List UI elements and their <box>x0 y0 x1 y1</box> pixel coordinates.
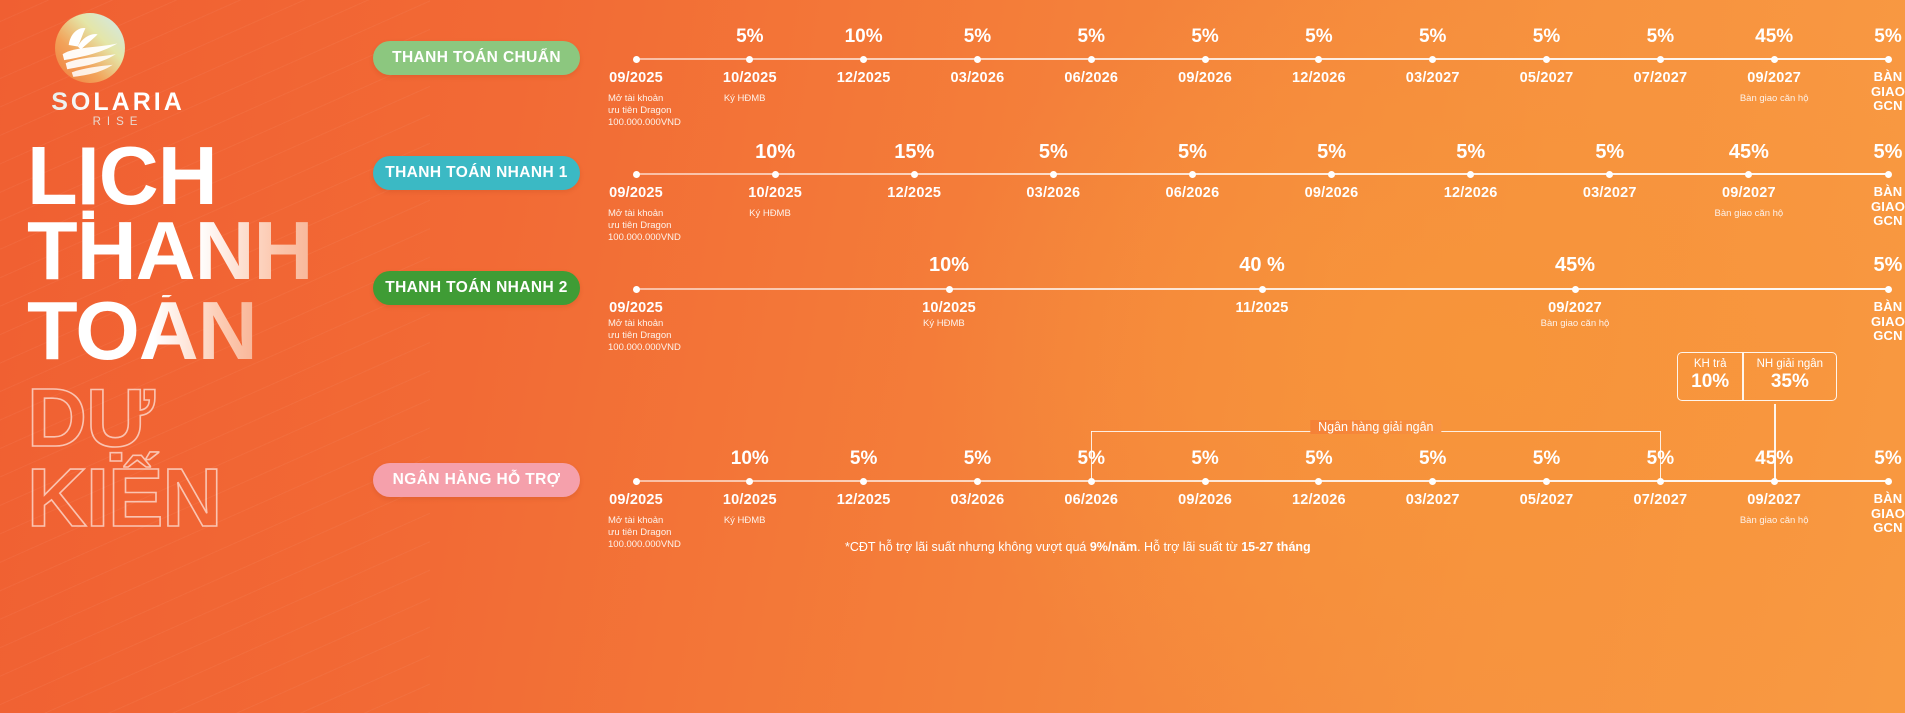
headline-line-2: THANH <box>27 215 312 286</box>
milestone-node[interactable] <box>1050 171 1057 178</box>
plan-pill-4[interactable]: NGÂN HÀNG HỖ TRỢ <box>373 463 580 497</box>
milestone-percent: 5% <box>1305 448 1332 470</box>
milestone-date: 07/2027 <box>1633 492 1687 508</box>
milestone-date: 05/2027 <box>1520 492 1574 508</box>
milestone-date: 09/2025 <box>609 70 663 86</box>
milestone-date: 12/2026 <box>1444 185 1498 201</box>
split-box-bank-cell: NH giải ngân 35% <box>1744 353 1836 400</box>
milestone-percent: 5% <box>1191 448 1218 470</box>
milestone-date: 10/2025 <box>748 185 802 201</box>
milestone-node[interactable] <box>1315 478 1322 485</box>
milestone-percent: 10% <box>755 141 795 164</box>
milestone-percent: 5% <box>736 26 763 48</box>
milestone-date: BÀN GIAO GCN <box>1871 300 1905 344</box>
brand-subtitle: RISE <box>33 116 203 128</box>
milestone-date: 11/2025 <box>1235 300 1288 316</box>
milestone-date: 09/2026 <box>1305 185 1359 201</box>
milestone-node[interactable] <box>1543 56 1550 63</box>
footnote-duration: 15-27 tháng <box>1241 540 1310 554</box>
milestone-note: Mở tài khoản ưu tiên Dragon 100.000.000V… <box>608 515 681 551</box>
milestone-percent: 5% <box>1419 26 1446 48</box>
milestone-node[interactable] <box>633 171 640 178</box>
milestone-percent: 5% <box>1317 141 1346 164</box>
milestone-node[interactable] <box>974 56 981 63</box>
headline-line-4: DỰ <box>27 382 154 453</box>
split-box-customer-label: KH trả <box>1694 358 1727 370</box>
plan-pill-label: THANH TOÁN NHANH 1 <box>385 164 568 182</box>
milestone-node[interactable] <box>1657 56 1664 63</box>
milestone-date: 12/2026 <box>1292 70 1346 86</box>
milestone-date: 12/2025 <box>837 70 891 86</box>
milestone-node[interactable] <box>860 478 867 485</box>
milestone-node[interactable] <box>1467 171 1474 178</box>
milestone-percent: 5% <box>1419 448 1446 470</box>
milestone-date: 09/2027 <box>1747 492 1801 508</box>
split-box-bank-value: 35% <box>1771 371 1809 393</box>
milestone-node[interactable] <box>1202 56 1209 63</box>
milestone-date: 03/2027 <box>1406 70 1460 86</box>
milestone-node[interactable] <box>1429 56 1436 63</box>
milestone-percent: 5% <box>1533 448 1560 470</box>
milestone-node[interactable] <box>1429 478 1436 485</box>
sun-leaf-wave-logo-icon <box>52 10 128 86</box>
milestone-date: BÀN GIAO GCN <box>1871 70 1905 114</box>
milestone-percent: 5% <box>1191 26 1218 48</box>
milestone-note: Mở tài khoản ưu tiên Dragon 100.000.000V… <box>608 93 681 129</box>
plan-pill-2[interactable]: THANH TOÁN NHANH 1 <box>373 156 580 190</box>
milestone-node[interactable] <box>633 56 640 63</box>
headline-line-5: KIẾN <box>27 462 221 533</box>
milestone-percent: 5% <box>1039 141 1068 164</box>
milestone-date: 12/2026 <box>1292 492 1346 508</box>
bank-bracket-left-tick <box>1091 431 1092 480</box>
footnote: *CĐT hỗ trợ lãi suất nhưng không vượt qu… <box>845 540 1311 554</box>
milestone-percent: 10% <box>929 254 969 277</box>
milestone-date: 12/2025 <box>887 185 941 201</box>
milestone-percent: 45% <box>1755 26 1793 48</box>
milestone-percent: 5% <box>1874 26 1901 48</box>
milestone-note: Mở tài khoản ưu tiên Dragon 100.000.000V… <box>608 208 681 244</box>
milestone-node[interactable] <box>1885 286 1892 293</box>
milestone-percent: 5% <box>1595 141 1624 164</box>
milestone-node[interactable] <box>1745 171 1752 178</box>
milestone-node[interactable] <box>1315 56 1322 63</box>
milestone-node[interactable] <box>1885 56 1892 63</box>
brand-wordmark: SOLARIA <box>33 88 203 117</box>
timeline-track-4 <box>636 480 1888 482</box>
milestone-note: Mở tài khoản ưu tiên Dragon 100.000.000V… <box>608 318 681 354</box>
milestone-date: 03/2026 <box>951 492 1005 508</box>
milestone-percent: 5% <box>1078 26 1105 48</box>
milestone-percent: 5% <box>1305 26 1332 48</box>
milestone-node[interactable] <box>772 171 779 178</box>
bank-bracket-label: Ngân hàng giải ngân <box>1310 420 1441 434</box>
split-box-stem <box>1774 404 1775 480</box>
milestone-date: 10/2025 <box>723 70 777 86</box>
milestone-node[interactable] <box>1543 478 1550 485</box>
timeline-track-2 <box>636 173 1888 175</box>
milestone-date: 06/2026 <box>1064 492 1118 508</box>
milestone-node[interactable] <box>860 56 867 63</box>
milestone-percent: 5% <box>1647 26 1674 48</box>
milestone-node[interactable] <box>633 286 640 293</box>
milestone-note: Ký HĐMB <box>724 93 766 105</box>
milestone-node[interactable] <box>1885 478 1892 485</box>
milestone-date: 03/2026 <box>951 70 1005 86</box>
milestone-node[interactable] <box>1259 286 1266 293</box>
milestone-percent: 5% <box>1533 26 1560 48</box>
milestone-date: BÀN GIAO GCN <box>1871 185 1905 229</box>
milestone-percent: 10% <box>845 26 883 48</box>
milestone-node[interactable] <box>946 286 953 293</box>
milestone-node[interactable] <box>1771 56 1778 63</box>
milestone-percent: 45% <box>1555 254 1595 277</box>
split-box: KH trả 10% NH giải ngân 35% <box>1677 352 1837 401</box>
milestone-note: Ký HĐMB <box>923 318 965 330</box>
milestone-date: 09/2025 <box>609 492 663 508</box>
timeline-track-3 <box>636 288 1888 290</box>
milestone-note: Bàn giao căn hộ <box>1740 515 1809 527</box>
milestone-node[interactable] <box>1202 478 1209 485</box>
plan-pill-1[interactable]: THANH TOÁN CHUẨN <box>373 41 580 75</box>
milestone-percent: 15% <box>894 141 934 164</box>
milestone-node[interactable] <box>633 478 640 485</box>
milestone-percent: 5% <box>1178 141 1207 164</box>
milestone-node[interactable] <box>1328 171 1335 178</box>
milestone-date: BÀN GIAO GCN <box>1871 492 1905 536</box>
timeline-track-1 <box>636 58 1888 60</box>
milestone-node[interactable] <box>746 56 753 63</box>
milestone-percent: 5% <box>964 26 991 48</box>
milestone-node[interactable] <box>746 478 753 485</box>
milestone-percent: 10% <box>731 448 769 470</box>
milestone-node[interactable] <box>1572 286 1579 293</box>
milestone-date: 09/2025 <box>609 185 663 201</box>
milestone-date: 09/2026 <box>1178 492 1232 508</box>
milestone-note: Ký HĐMB <box>749 208 791 220</box>
milestone-percent: 5% <box>1874 448 1901 470</box>
milestone-date: 03/2027 <box>1406 492 1460 508</box>
split-box-bank-label: NH giải ngân <box>1757 358 1823 370</box>
milestone-note: Bàn giao căn hộ <box>1740 93 1809 105</box>
milestone-node[interactable] <box>911 171 918 178</box>
plan-pill-label: THANH TOÁN CHUẨN <box>392 49 561 67</box>
milestone-date: 10/2025 <box>723 492 777 508</box>
milestone-date: 05/2027 <box>1520 70 1574 86</box>
milestone-date: 06/2026 <box>1166 185 1220 201</box>
milestone-node[interactable] <box>1606 171 1613 178</box>
milestone-date: 03/2027 <box>1583 185 1637 201</box>
headline-line-1: LỊCH <box>27 140 217 211</box>
milestone-percent: 40 % <box>1239 254 1285 277</box>
brand-panel: SOLARIA RISE LỊCH THANH TOÁN DỰ KIẾN <box>0 0 400 713</box>
split-box-customer-value: 10% <box>1691 371 1729 393</box>
milestone-date: 09/2027 <box>1548 300 1602 316</box>
milestone-date: 09/2026 <box>1178 70 1232 86</box>
milestone-note: Bàn giao căn hộ <box>1541 318 1610 330</box>
milestone-date: 09/2025 <box>609 300 663 316</box>
milestone-date: 09/2027 <box>1722 185 1776 201</box>
milestone-node[interactable] <box>1885 171 1892 178</box>
milestone-node[interactable] <box>974 478 981 485</box>
headline-line-3: TOÁN <box>27 295 257 366</box>
milestone-percent: 5% <box>1874 254 1903 277</box>
milestone-node[interactable] <box>1088 56 1095 63</box>
milestone-date: 03/2026 <box>1026 185 1080 201</box>
milestone-date: 10/2025 <box>922 300 976 316</box>
milestone-percent: 5% <box>850 448 877 470</box>
split-box-customer-cell: KH trả 10% <box>1678 353 1742 400</box>
milestone-percent: 45% <box>1729 141 1769 164</box>
milestone-date: 06/2026 <box>1064 70 1118 86</box>
milestone-percent: 5% <box>964 448 991 470</box>
milestone-percent: 5% <box>1456 141 1485 164</box>
milestone-date: 09/2027 <box>1747 70 1801 86</box>
milestone-percent: 5% <box>1874 141 1903 164</box>
milestone-node[interactable] <box>1189 171 1196 178</box>
footnote-rate: 9%/năm <box>1090 540 1137 554</box>
milestone-note: Bàn giao căn hộ <box>1715 208 1784 220</box>
bank-bracket-right-tick <box>1660 431 1661 480</box>
milestone-date: 07/2027 <box>1633 70 1687 86</box>
milestone-note: Ký HĐMB <box>724 515 766 527</box>
plan-pill-label: THANH TOÁN NHANH 2 <box>385 279 568 297</box>
plan-pill-label: NGÂN HÀNG HỖ TRỢ <box>393 471 561 489</box>
milestone-date: 12/2025 <box>837 492 891 508</box>
plan-pill-3[interactable]: THANH TOÁN NHANH 2 <box>373 271 580 305</box>
